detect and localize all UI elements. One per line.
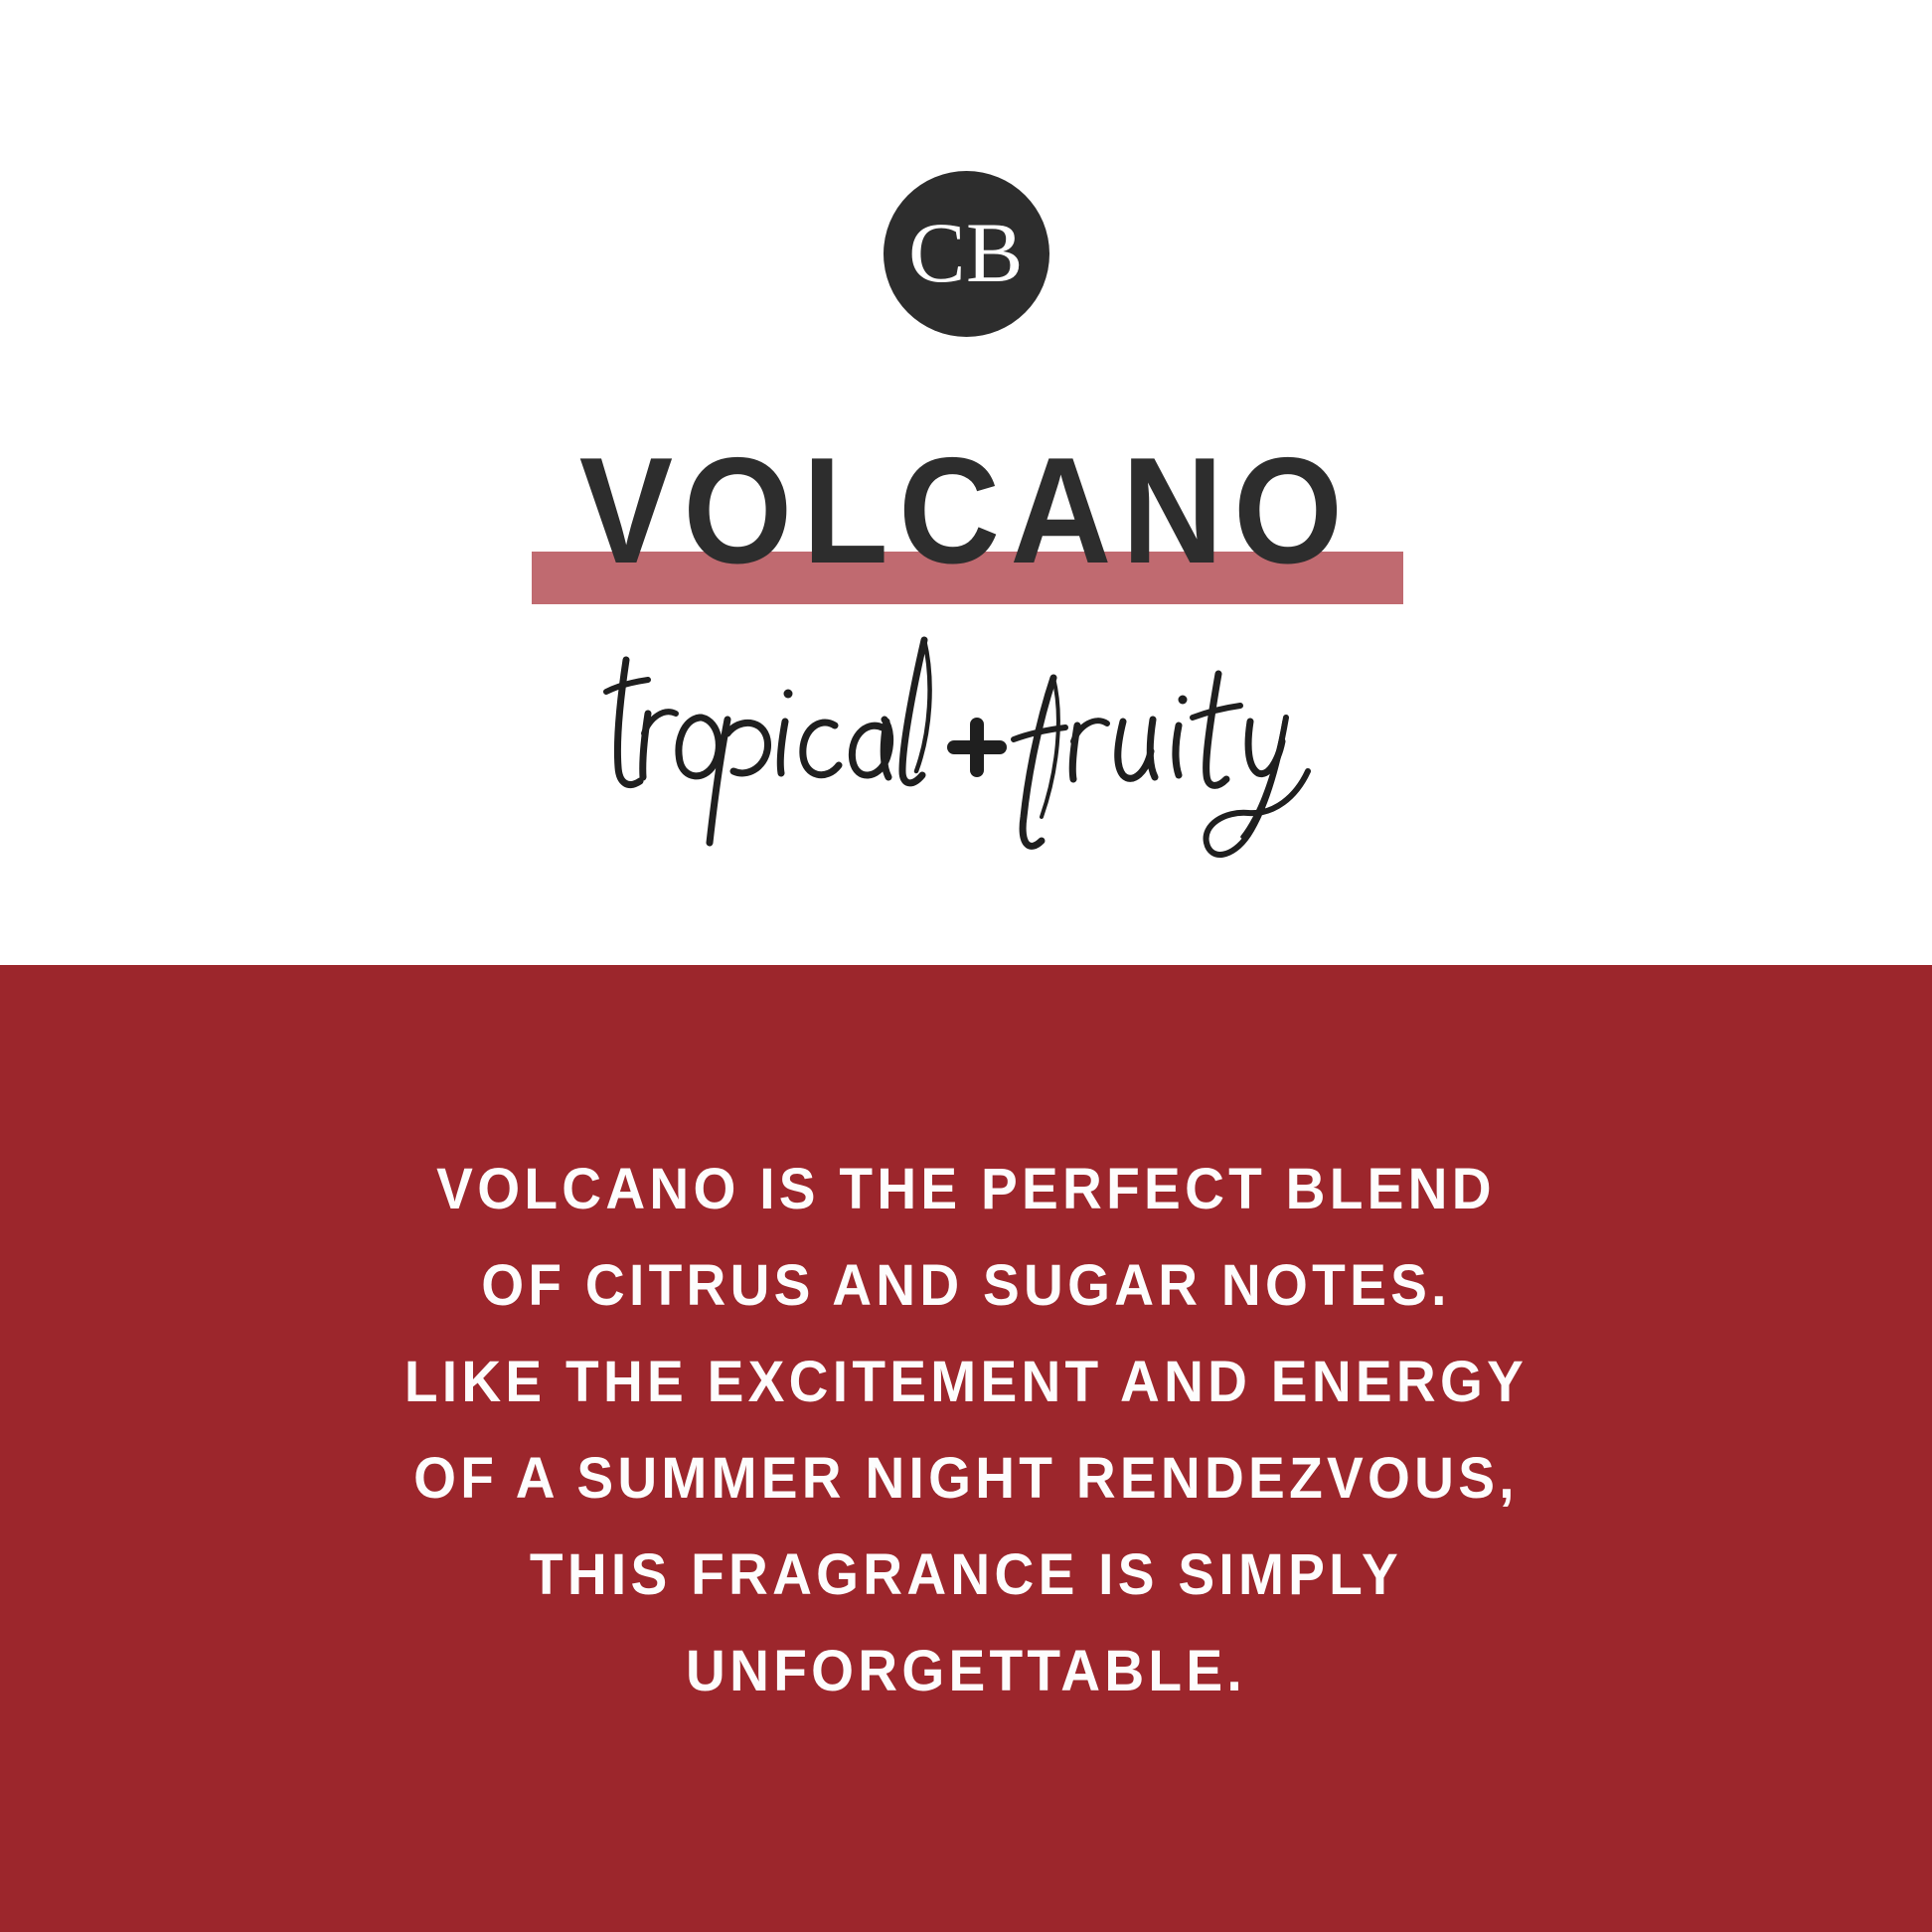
description-line: VOLCANO IS THE PERFECT BLEND	[49, 1141, 1884, 1237]
logo-circle-icon: CB	[884, 171, 1049, 337]
description-line: OF A SUMMER NIGHT RENDEZVOUS,	[49, 1430, 1884, 1527]
description-line: UNFORGETTABLE.	[49, 1623, 1884, 1719]
subtitle-script: tropical + fruity	[0, 622, 1932, 871]
product-fragrance-card: CB VOLCANO tropical + fruity	[0, 0, 1932, 1932]
fragrance-description: VOLCANO IS THE PERFECT BLEND OF CITRUS A…	[0, 1141, 1932, 1719]
brand-logo: CB	[0, 171, 1932, 337]
description-line: LIKE THE EXCITEMENT AND ENERGY	[49, 1334, 1884, 1430]
logo-monogram-text: CB	[908, 210, 1024, 295]
description-line: OF CITRUS AND SUGAR NOTES.	[49, 1237, 1884, 1334]
title-block: VOLCANO	[0, 435, 1932, 614]
page-title: VOLCANO	[68, 435, 1864, 586]
description-line: THIS FRAGRANCE IS SIMPLY	[49, 1527, 1884, 1623]
subtitle-script-artwork: tropical + fruity	[588, 622, 1344, 871]
